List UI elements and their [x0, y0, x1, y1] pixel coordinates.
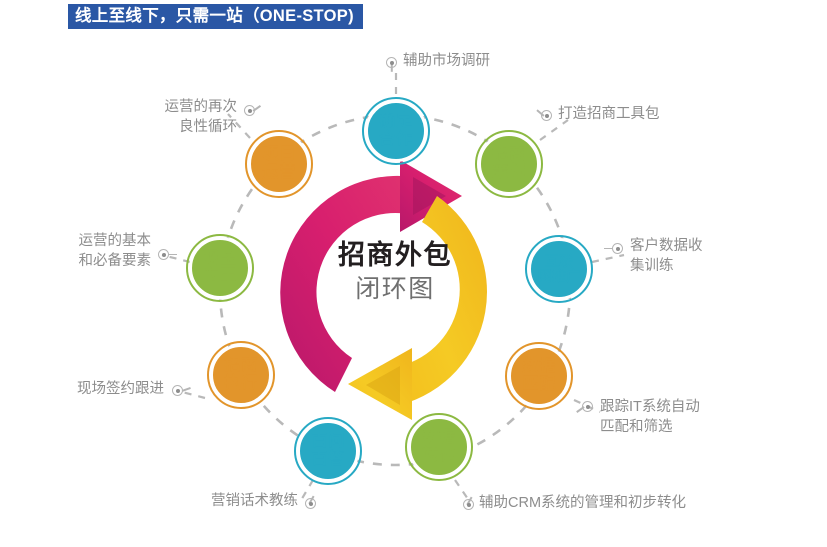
- node-data-matching[interactable]: 数据 匹配: [508, 345, 570, 407]
- node-label: 招商 策划: [492, 146, 526, 181]
- pin-marketing-script-coach-icon: [305, 498, 316, 509]
- pin-stem: [604, 248, 613, 250]
- cycle-arrow-yellow: [348, 196, 487, 420]
- node-confirm-cooperation[interactable]: 确定 合作: [365, 100, 427, 162]
- node-label: 互联 网推广: [538, 254, 581, 284]
- node-label: 数据 转化: [422, 429, 456, 464]
- node-label: 数据 匹配: [522, 358, 556, 393]
- pin-onsite-signing-icon: [172, 385, 183, 396]
- node-hundred-qa[interactable]: 百问 百答: [297, 420, 359, 482]
- node-project-operation[interactable]: 项目 运营: [248, 133, 310, 195]
- node-cash-is-king[interactable]: 现金 为王: [189, 237, 251, 299]
- annotation-operation-essentials: 运营的基本 和必备要素: [79, 232, 152, 271]
- annotation-market-research: 辅助市场调研: [403, 52, 490, 72]
- annotation-crm-management: 辅助CRM系统的管理和初步转化: [479, 494, 686, 514]
- pin-operation-essentials-icon: [158, 249, 169, 260]
- node-data-conversion[interactable]: 数据 转化: [408, 416, 470, 478]
- node-label: 确定 合作: [379, 113, 413, 148]
- pin-customer-data-training-icon: [612, 243, 623, 254]
- node-label: 招商 执行: [224, 357, 258, 392]
- node-investment-execution[interactable]: 招商 执行: [210, 344, 272, 406]
- pin-investment-toolkit-icon: [541, 110, 552, 121]
- annotation-it-auto-matching: 跟踪IT系统自动 匹配和筛选: [600, 398, 700, 437]
- pin-stem: [168, 254, 177, 256]
- annotation-investment-toolkit: 打造招商工具包: [558, 105, 660, 125]
- pin-it-auto-matching-icon: [582, 401, 593, 412]
- annotation-customer-data-training: 客户数据收 集训练: [630, 237, 703, 276]
- annotation-virtuous-cycle: 运营的再次 良性循环: [165, 98, 238, 137]
- annotation-onsite-signing: 现场签约跟进: [77, 380, 164, 400]
- node-label: 项目 运营: [262, 146, 296, 181]
- node-label: 现金 为王: [203, 250, 237, 285]
- node-internet-promotion[interactable]: 互联 网推广: [528, 238, 590, 300]
- node-investment-planning[interactable]: 招商 策划: [478, 133, 540, 195]
- node-label: 百问 百答: [311, 433, 345, 468]
- pin-virtuous-cycle-icon: [244, 105, 255, 116]
- infographic-canvas: 线上至线下，只需一站（ONE-STOP): [0, 0, 827, 547]
- annotation-marketing-script-coach: 营销话术教练: [211, 492, 298, 512]
- pin-stem: [391, 63, 393, 72]
- pin-market-research-icon: [386, 57, 397, 68]
- pin-crm-management-icon: [463, 499, 474, 510]
